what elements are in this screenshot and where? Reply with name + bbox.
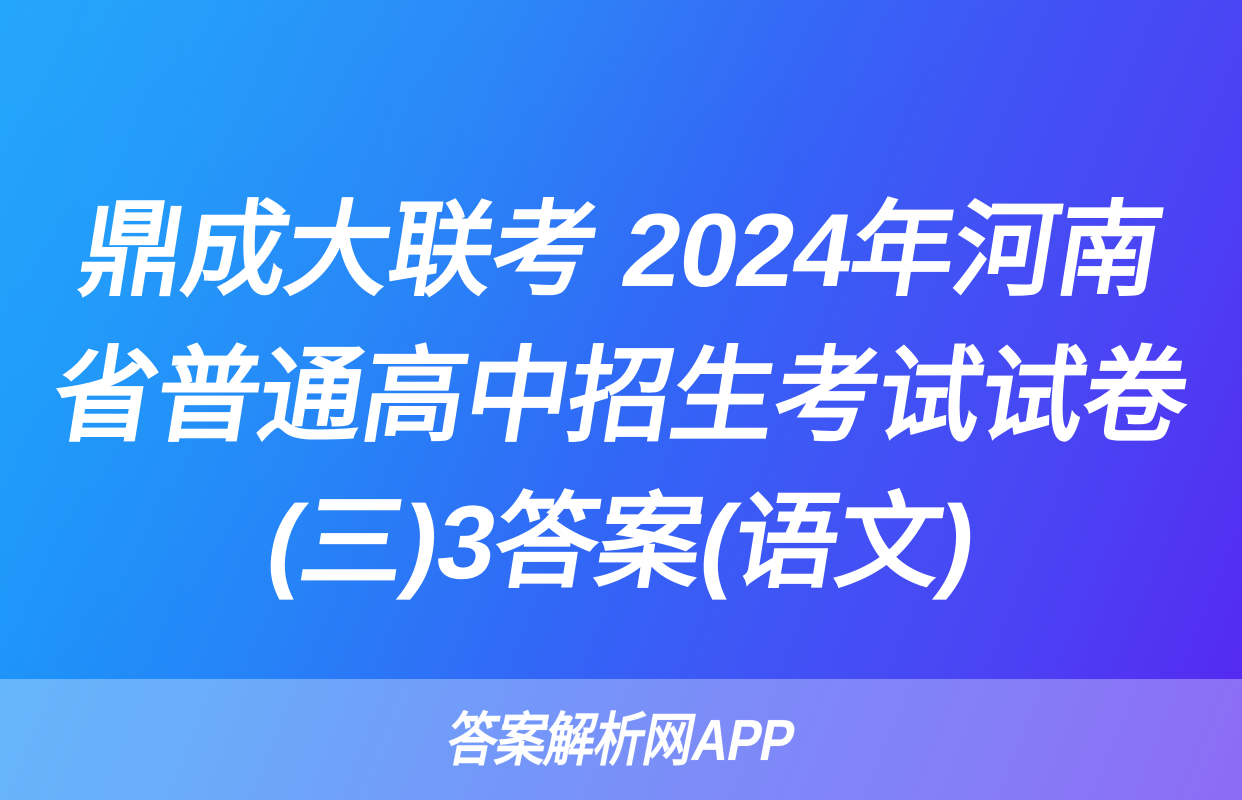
- title-line-3: (三)3答案(语文): [256, 470, 985, 616]
- app-watermark-label: 答案解析网APP: [443, 712, 799, 770]
- title-line-1: 鼎成大联考 2024年河南: [70, 178, 1172, 324]
- footer-watermark-band: 答案解析网APP: [0, 679, 1242, 800]
- title-line-2: 省普通高中招生考试试卷: [43, 324, 1199, 470]
- page-title: 鼎成大联考 2024年河南 省普通高中招生考试试卷 (三)3答案(语文): [0, 178, 1242, 638]
- poster-canvas: 鼎成大联考 2024年河南 省普通高中招生考试试卷 (三)3答案(语文) 答案解…: [0, 0, 1242, 800]
